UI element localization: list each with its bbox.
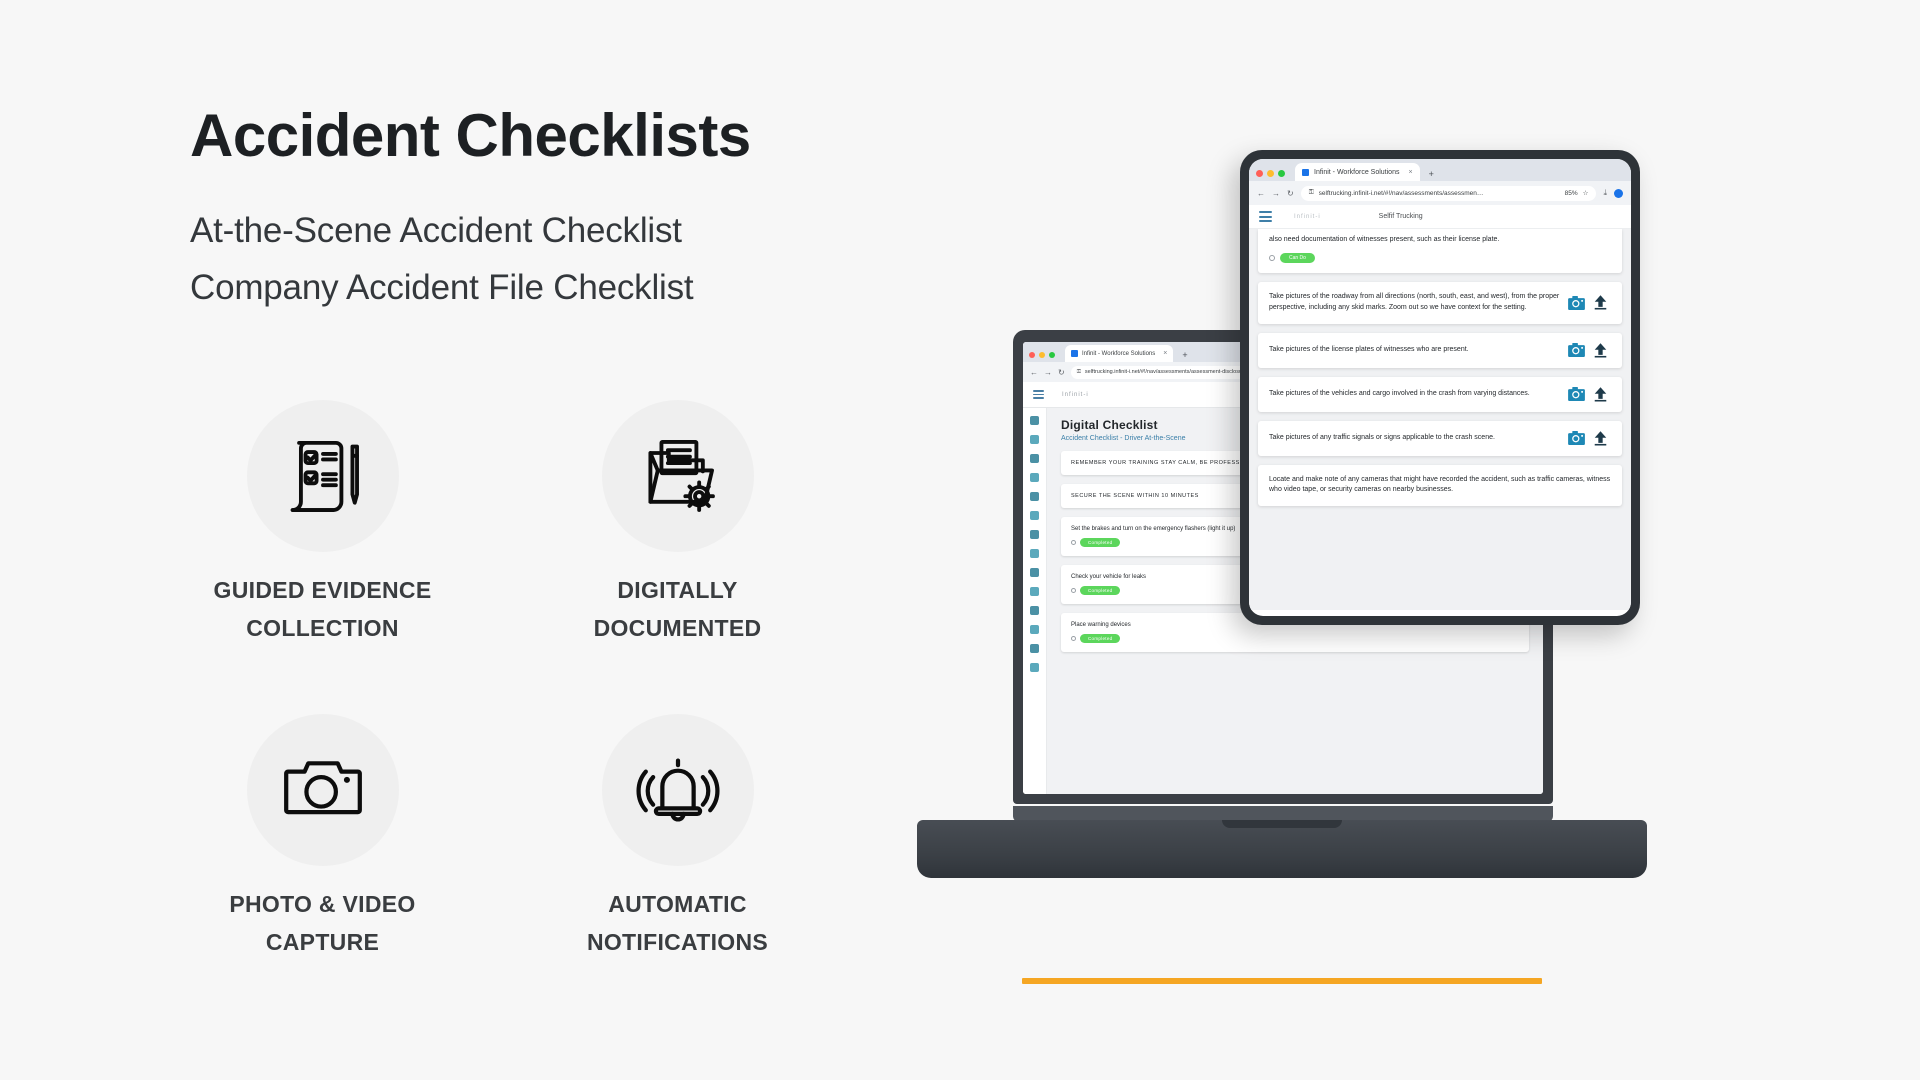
hamburger-menu-icon[interactable] xyxy=(1033,390,1044,399)
feature-label: PHOTO & VIDEO CAPTURE xyxy=(193,886,453,962)
checklist-clipboard-pencil-icon xyxy=(247,400,399,552)
checklist-card[interactable]: Take pictures of the license plates of w… xyxy=(1258,333,1622,368)
maximize-window-dot[interactable] xyxy=(1278,170,1285,177)
lock-icon: ⚿ xyxy=(1077,369,1081,376)
radio-button[interactable] xyxy=(1071,540,1076,545)
tablet-tab-bar: Infinit - Workforce Solutions × + xyxy=(1249,159,1631,181)
camera-icon[interactable] xyxy=(1568,431,1585,445)
sidebar-item-training[interactable] xyxy=(1030,435,1039,444)
status-badge: Completed xyxy=(1080,634,1120,643)
camera-icon[interactable] xyxy=(1568,343,1585,357)
ringing-bell-icon xyxy=(602,714,754,866)
feature-digitally-documented: DIGITALLY DOCUMENTED xyxy=(515,400,840,648)
checklist-item-text: Take pictures of the vehicles and cargo … xyxy=(1269,389,1560,400)
status-badge: Can Do xyxy=(1280,253,1315,263)
app-brand-logo: Infinit-i xyxy=(1294,214,1321,220)
checklist-item-text: Take pictures of the roadway from all di… xyxy=(1269,292,1560,314)
browser-tab[interactable]: Infinit - Workforce Solutions × xyxy=(1065,345,1173,362)
subtitle-line-2: Company Accident File Checklist xyxy=(190,260,890,317)
device-mockups: Infinit - Workforce Solutions × + ← → ↻ … xyxy=(955,150,1885,950)
radio-button[interactable] xyxy=(1071,636,1076,641)
checklist-item-actions xyxy=(1568,387,1611,402)
sidebar-item-reports[interactable] xyxy=(1030,568,1039,577)
upload-icon[interactable] xyxy=(1594,343,1607,358)
close-window-dot[interactable] xyxy=(1029,352,1035,358)
promo-slide: Accident Checklists At-the-Scene Acciden… xyxy=(0,0,1920,1080)
checklist-card[interactable]: Take pictures of the vehicles and cargo … xyxy=(1258,377,1622,412)
checklist-item-text: also need documentation of witnesses pre… xyxy=(1269,235,1611,246)
subtitle-list: At-the-Scene Accident Checklist Company … xyxy=(190,203,890,316)
checklist-item-actions xyxy=(1568,295,1611,310)
close-tab-icon[interactable]: × xyxy=(1408,169,1412,176)
camera-icon[interactable] xyxy=(1568,296,1585,310)
maximize-window-dot[interactable] xyxy=(1049,352,1055,358)
checklist-item-text: Take pictures of the license plates of w… xyxy=(1269,345,1560,356)
browser-tab[interactable]: Infinit - Workforce Solutions × xyxy=(1295,163,1420,181)
app-sidebar xyxy=(1023,408,1047,794)
checklist-item-text: Locate and make note of any cameras that… xyxy=(1269,475,1611,497)
camera-icon xyxy=(247,714,399,866)
checklist-item-text: Take pictures of any traffic signals or … xyxy=(1269,433,1560,444)
feature-photo-video-capture: PHOTO & VIDEO CAPTURE xyxy=(160,714,485,962)
checklist-item-status[interactable]: Completed xyxy=(1071,634,1519,643)
favicon-icon xyxy=(1071,350,1078,357)
company-name: Selfif Trucking xyxy=(1379,213,1423,220)
minimize-window-dot[interactable] xyxy=(1039,352,1045,358)
left-content-column: Accident Checklists At-the-Scene Acciden… xyxy=(190,104,890,316)
radio-button[interactable] xyxy=(1269,255,1275,261)
forward-icon[interactable]: → xyxy=(1272,189,1280,198)
close-window-dot[interactable] xyxy=(1256,170,1263,177)
tablet-app-topbar: Infinit-i Selfif Trucking xyxy=(1249,205,1631,229)
upload-icon[interactable] xyxy=(1594,431,1607,446)
feature-guided-evidence-collection: GUIDED EVIDENCE COLLECTION xyxy=(160,400,485,648)
download-icon[interactable]: ⤓ xyxy=(1603,188,1607,198)
sidebar-item-settings[interactable] xyxy=(1030,663,1039,672)
window-controls[interactable] xyxy=(1256,170,1285,181)
checklist-card[interactable]: Take pictures of the roadway from all di… xyxy=(1258,282,1622,324)
close-tab-icon[interactable]: × xyxy=(1163,350,1167,357)
new-tab-button[interactable]: + xyxy=(1177,350,1192,362)
minimize-window-dot[interactable] xyxy=(1267,170,1274,177)
feature-label: GUIDED EVIDENCE COLLECTION xyxy=(193,572,453,648)
hamburger-menu-icon[interactable] xyxy=(1259,211,1272,222)
sidebar-item-documents[interactable] xyxy=(1030,492,1039,501)
window-controls[interactable] xyxy=(1029,352,1055,362)
accent-bar xyxy=(1022,978,1542,984)
radio-button[interactable] xyxy=(1071,588,1076,593)
checklist-card[interactable]: also need documentation of witnesses pre… xyxy=(1258,229,1622,273)
upload-icon[interactable] xyxy=(1594,387,1607,402)
reload-icon[interactable]: ↻ xyxy=(1287,189,1294,198)
sidebar-item-folders[interactable] xyxy=(1030,473,1039,482)
address-bar[interactable]: ⚿ selftrucking.infinit-i.net/#!/nav/asse… xyxy=(1301,186,1597,201)
tab-title: Infinit - Workforce Solutions xyxy=(1314,169,1399,176)
checklist-card[interactable]: Take pictures of any traffic signals or … xyxy=(1258,421,1622,456)
status-badge: Completed xyxy=(1080,538,1120,547)
tablet-app-body: also need documentation of witnesses pre… xyxy=(1249,229,1631,610)
tablet-mockup: Infinit - Workforce Solutions × + ← → ↻ … xyxy=(1240,150,1640,625)
upload-icon[interactable] xyxy=(1594,295,1607,310)
sidebar-item-dashboard[interactable] xyxy=(1030,416,1039,425)
feature-label: AUTOMATIC NOTIFICATIONS xyxy=(548,886,808,962)
feature-grid: GUIDED EVIDENCE COLLECTION DIGITALLY DOC… xyxy=(160,400,840,962)
favicon-icon xyxy=(1302,169,1309,176)
bookmark-star-icon[interactable]: ☆ xyxy=(1583,189,1589,197)
avatar[interactable] xyxy=(1614,189,1623,198)
sidebar-item-assessments[interactable] xyxy=(1030,587,1039,596)
new-tab-button[interactable]: + xyxy=(1424,169,1439,181)
laptop-trackpad-notch xyxy=(1222,820,1342,828)
sidebar-item-library[interactable] xyxy=(1030,454,1039,463)
feature-label: DIGITALLY DOCUMENTED xyxy=(548,572,808,648)
laptop-base xyxy=(917,820,1647,878)
sidebar-item-add-user[interactable] xyxy=(1030,530,1039,539)
reload-icon[interactable]: ↻ xyxy=(1058,368,1065,377)
checklist-item-status[interactable]: Can Do xyxy=(1269,253,1611,263)
sidebar-item-messages[interactable] xyxy=(1030,644,1039,653)
tablet-browser-chrome: Infinit - Workforce Solutions × + ← → ↻ … xyxy=(1249,159,1631,205)
checklist-item-actions xyxy=(1568,431,1611,446)
zoom-level-label[interactable]: 85% xyxy=(1565,190,1578,197)
sidebar-item-groups[interactable] xyxy=(1030,549,1039,558)
sidebar-item-mobile[interactable] xyxy=(1030,511,1039,520)
back-icon[interactable]: ← xyxy=(1257,189,1265,198)
lock-icon: ⚿ xyxy=(1309,189,1314,197)
feature-automatic-notifications: AUTOMATIC NOTIFICATIONS xyxy=(515,714,840,962)
back-icon[interactable]: ← xyxy=(1030,368,1038,377)
camera-icon[interactable] xyxy=(1568,387,1585,401)
sidebar-item-archive[interactable] xyxy=(1030,606,1039,615)
page-title: Accident Checklists xyxy=(190,104,890,167)
tab-title: Infinit - Workforce Solutions xyxy=(1082,351,1155,357)
checklist-card[interactable]: Locate and make note of any cameras that… xyxy=(1258,465,1622,507)
sidebar-item-search[interactable] xyxy=(1030,625,1039,634)
url-text: selftrucking.infinit-i.net/#!/nav/assess… xyxy=(1319,190,1560,197)
tablet-url-bar: ← → ↻ ⚿ selftrucking.infinit-i.net/#!/na… xyxy=(1249,181,1631,205)
checklist-item-actions xyxy=(1568,343,1611,358)
tablet-screen: Infinit - Workforce Solutions × + ← → ↻ … xyxy=(1249,159,1631,616)
subtitle-line-1: At-the-Scene Accident Checklist xyxy=(190,203,890,260)
folder-document-gear-icon xyxy=(602,400,754,552)
app-brand-logo: Infinit-i xyxy=(1062,392,1089,398)
forward-icon[interactable]: → xyxy=(1044,368,1052,377)
status-badge: Completed xyxy=(1080,586,1120,595)
